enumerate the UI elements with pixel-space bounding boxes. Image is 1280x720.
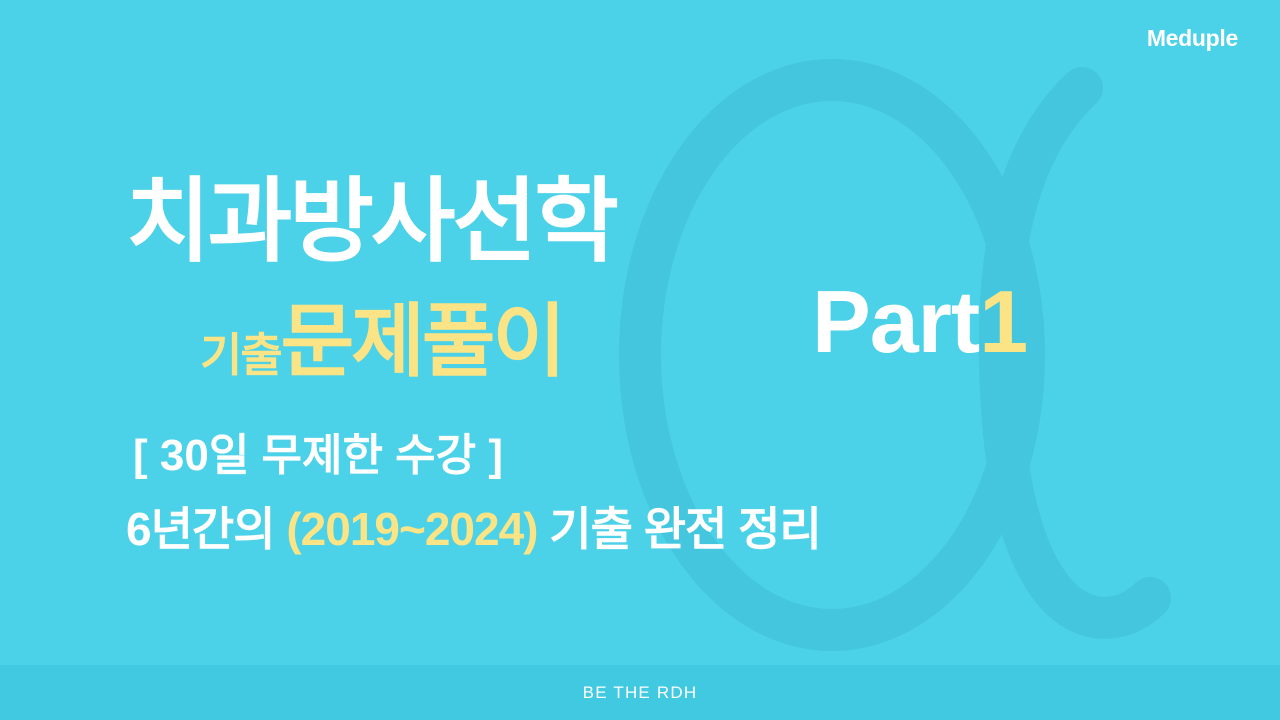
page-title: 치과방사선학 (126, 176, 616, 268)
access-period-line: [ 30일 무제한 수강 ] (133, 434, 503, 478)
coverage-suffix: 기출 완전 정리 (538, 503, 821, 555)
footer-bar: BE THE RDH (0, 665, 1280, 720)
part-badge-number: 1 (979, 272, 1027, 371)
coverage-line: 6년간의 (2019~2024) 기출 완전 정리 (126, 506, 821, 552)
footer-tagline: BE THE RDH (583, 683, 698, 703)
hero-headline-group: 치과방사선학 기출 문제풀이 Part1 [ 30일 무제한 수강 ] 6년간의… (0, 0, 1280, 720)
part-badge: Part1 (812, 278, 1027, 366)
part-badge-word: Part (812, 272, 979, 371)
slide-canvas: Meduple 치과방사선학 기출 문제풀이 Part1 [ 30일 무제한 수… (0, 0, 1280, 720)
coverage-year-range: (2019~2024) (286, 503, 537, 555)
subtitle-row: 기출 문제풀이 (200, 302, 563, 382)
subtitle-qualifier: 기출 (200, 332, 281, 378)
subtitle-main: 문제풀이 (281, 302, 563, 382)
coverage-prefix: 6년간의 (126, 503, 286, 555)
